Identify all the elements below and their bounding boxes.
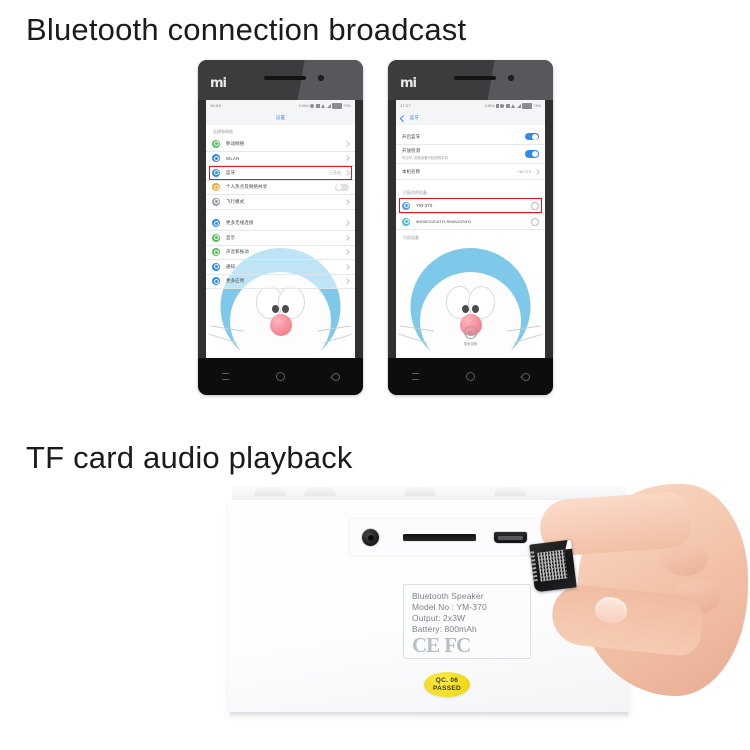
screen-title-bar-right: 蓝牙 <box>396 111 545 125</box>
hotspot-toggle[interactable] <box>335 184 349 192</box>
speaker-button-bump <box>304 486 336 496</box>
bluetooth-icon <box>496 104 499 108</box>
row-subtitle: 可见时, 其他设备可检测到本机 <box>402 155 525 160</box>
microsd-card <box>529 540 577 593</box>
wifi-icon <box>321 104 325 108</box>
spec-line-product: Bluetooth Speaker <box>412 591 530 602</box>
display-icon <box>212 234 220 242</box>
phone-left-bezel-top: mi <box>198 60 363 100</box>
settings-row-more-apps[interactable]: 更多应用 <box>206 275 355 290</box>
status-battery-percent: 79% <box>534 104 541 108</box>
more-wireless-icon <box>212 219 220 227</box>
back-chevron-icon[interactable] <box>400 115 406 121</box>
qc-passed-sticker: QC. 06 PASSED <box>424 672 470 697</box>
phone-left-navbar <box>198 358 363 395</box>
status-bar-right: 17:07 4.6K/s 79% <box>396 100 545 111</box>
settings-row-notifications[interactable]: 通知 <box>206 260 355 275</box>
discoverable-toggle[interactable] <box>525 150 539 158</box>
mi-logo: mi <box>210 77 226 90</box>
info-icon[interactable] <box>531 202 539 210</box>
bluetooth-device-icon <box>402 218 410 226</box>
phone-left-screen: 16:59 4.6K/s 79% 设置 无线和网络 移动网络 <box>206 100 355 358</box>
alarm-icon <box>310 104 314 108</box>
row-label: 蓝牙 <box>226 170 329 176</box>
ce-mark-icon: CE <box>412 636 439 655</box>
status-time: 16:59 <box>210 103 221 108</box>
spec-line-model: Model No : YM-370 <box>412 602 530 613</box>
bluetooth-device-icon <box>402 202 410 210</box>
phone-left: mi <box>198 60 363 395</box>
page-title-label: 蓝牙 <box>410 115 420 121</box>
more-apps-icon <box>212 277 220 285</box>
chevron-right-icon <box>344 155 350 161</box>
menu-icon[interactable] <box>412 373 419 380</box>
row-label: 飞行模式 <box>226 199 345 205</box>
row-value: YM-370 <box>517 169 531 174</box>
row-discoverable[interactable]: 开放检测 可见时, 其他设备可检测到本机 <box>396 145 545 164</box>
screen-title-bar-left: 设置 <box>206 111 355 125</box>
chevron-right-icon <box>344 220 350 226</box>
audio-jack-icon <box>362 529 379 546</box>
device-name: 9HD8FZIZIATYLSMAVIGS6XI <box>416 220 531 224</box>
dnd-icon <box>316 104 320 108</box>
wifi-icon <box>511 104 515 108</box>
settings-row-airplane[interactable]: 飞行模式 <box>206 195 355 210</box>
notifications-icon <box>212 263 220 271</box>
info-icon[interactable] <box>531 218 539 226</box>
wlan-icon <box>212 154 220 162</box>
airplane-mode-icon <box>212 198 220 206</box>
row-label: 个人热点及网络共享 <box>226 184 335 190</box>
hotspot-icon <box>212 183 220 191</box>
row-label: 更多无线连接 <box>226 220 345 226</box>
bluetooth-icon <box>212 169 220 177</box>
qc-line-2: PASSED <box>433 685 461 693</box>
row-bluetooth-enable[interactable]: 开启蓝牙 <box>396 129 545 145</box>
device-name: YM-370 <box>416 203 531 208</box>
chevron-right-icon <box>344 264 350 270</box>
available-devices-label: 可用设备 <box>396 230 545 243</box>
settings-list: 无线和网络 移动网络 WLAN 蓝牙 已开启 <box>206 125 355 289</box>
row-label: 本机名称 <box>402 169 517 175</box>
tf-card-slot-icon <box>403 534 476 541</box>
settings-group-label: 无线和网络 <box>206 125 355 137</box>
battery-icon <box>522 103 532 109</box>
row-label: 声音和振动 <box>226 249 345 255</box>
chevron-right-icon <box>534 169 540 175</box>
status-network-speed: 4.6K/s <box>485 104 495 108</box>
row-label: 更多应用 <box>226 278 345 284</box>
row-label: 开启蓝牙 <box>402 134 525 140</box>
phone-screenshots-group: mi <box>0 60 750 405</box>
chevron-right-icon <box>344 141 350 147</box>
phone-right-screen: 17:07 4.6K/s 79% 蓝牙 <box>396 100 545 358</box>
front-camera-icon <box>318 75 324 81</box>
home-icon[interactable] <box>466 372 475 381</box>
settings-row-more-wireless[interactable]: 更多无线连接 <box>206 217 355 232</box>
scan-icon <box>464 326 477 339</box>
page-title-tfcard: TF card audio playback <box>26 440 353 476</box>
fcc-mark-icon: FC <box>444 636 470 655</box>
status-bar-left: 16:59 4.6K/s 79% <box>206 100 355 111</box>
chevron-right-icon <box>344 249 350 255</box>
tfcard-photo-group: Bluetooth Speaker Model No : YM-370 Outp… <box>0 480 750 750</box>
status-network-speed: 4.6K/s <box>299 104 309 108</box>
phone-right-bezel-top: mi <box>388 60 553 100</box>
earpiece-speaker-icon <box>454 76 496 80</box>
scan-label: 搜索设备 <box>464 341 478 346</box>
speaker-button-bump <box>254 486 286 496</box>
status-time: 17:07 <box>400 103 411 108</box>
signal-icon <box>327 104 331 108</box>
row-label: 移动网络 <box>226 141 345 147</box>
menu-icon[interactable] <box>222 373 229 380</box>
home-icon[interactable] <box>276 372 285 381</box>
chevron-right-icon <box>344 278 350 284</box>
speaker-button-bump <box>404 486 436 496</box>
chevron-right-icon <box>344 235 350 241</box>
scan-devices-button[interactable]: 搜索设备 <box>464 326 478 346</box>
paired-device-row-other[interactable]: 9HD8FZIZIATYLSMAVIGS6XI <box>396 214 545 230</box>
settings-row-sound[interactable]: 声音和振动 <box>206 246 355 261</box>
settings-row-wlan[interactable]: WLAN <box>206 152 355 167</box>
signal-icon <box>517 104 521 108</box>
settings-row-hotspot[interactable]: 个人热点及网络共享 <box>206 181 355 196</box>
qc-line-1: QC. 06 <box>436 677 458 685</box>
microsd-card-contacts <box>530 551 538 581</box>
microsd-card-print <box>537 550 567 582</box>
thumbnail <box>594 596 629 625</box>
back-icon[interactable] <box>330 371 341 382</box>
mi-logo: mi <box>400 77 416 90</box>
chevron-right-icon <box>344 199 350 205</box>
paired-device-row-ym370[interactable]: YM-370 <box>396 198 545 214</box>
settings-row-display[interactable]: 显示 <box>206 231 355 246</box>
phone-right: mi <box>388 60 553 395</box>
row-label: 显示 <box>226 235 345 241</box>
back-icon[interactable] <box>520 371 531 382</box>
dnd-icon <box>506 104 510 108</box>
chevron-right-icon <box>344 170 350 176</box>
bluetooth-enable-toggle[interactable] <box>525 133 539 141</box>
front-camera-icon <box>508 75 514 81</box>
settings-row-mobile-network[interactable]: 移动网络 <box>206 137 355 152</box>
row-label: 开放检测 <box>402 148 525 154</box>
status-battery-percent: 79% <box>344 104 351 108</box>
page-title-bluetooth: Bluetooth connection broadcast <box>26 12 466 48</box>
mobile-network-icon <box>212 140 220 148</box>
earpiece-speaker-icon <box>264 76 306 80</box>
row-value: 已开启 <box>329 170 341 176</box>
battery-icon <box>332 103 342 109</box>
hand-holding-card <box>516 478 750 726</box>
row-device-name[interactable]: 本机名称 YM-370 <box>396 164 545 180</box>
row-label: WLAN <box>226 156 345 161</box>
bluetooth-settings-list: 开启蓝牙 开放检测 可见时, 其他设备可检测到本机 本机名称 YM-370 <box>396 125 545 243</box>
alarm-icon <box>500 104 504 108</box>
settings-row-bluetooth[interactable]: 蓝牙 已开启 <box>206 166 355 181</box>
spec-line-output: Output: 2x3W <box>412 613 530 624</box>
page-title-label: 设置 <box>276 115 286 121</box>
paired-devices-label: 已配对的设备 <box>396 186 545 198</box>
sound-icon <box>212 248 220 256</box>
phone-right-navbar <box>388 358 553 395</box>
speaker-spec-label: Bluetooth Speaker Model No : YM-370 Outp… <box>403 584 531 659</box>
row-label: 通知 <box>226 264 345 270</box>
